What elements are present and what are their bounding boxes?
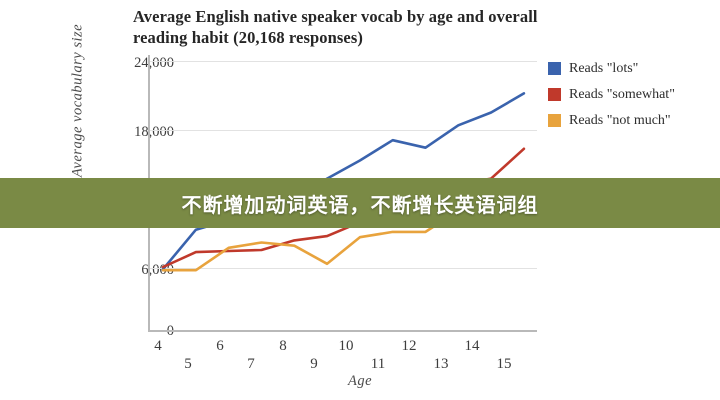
x-tick-11: 11 [358,356,398,373]
legend-swatch-icon [548,114,561,127]
legend-label: Reads "somewhat" [569,87,675,103]
legend-label: Reads "lots" [569,61,638,77]
overlay-banner-text: 不断增加动词英语，不断增长英语词组 [182,189,539,218]
chart-legend: Reads "lots" Reads "somewhat" Reads "not… [548,57,714,135]
x-axis-label: Age [0,373,720,390]
x-tick-9: 9 [294,356,334,373]
chart-screenshot: Average English native speaker vocab by … [0,0,720,400]
legend-swatch-icon [548,88,561,101]
x-tick-8: 8 [263,338,303,355]
overlay-banner: 不断增加动词英语，不断增长英语词组 [0,178,720,228]
legend-item-reads-somewhat: Reads "somewhat" [548,83,714,106]
x-tick-6: 6 [200,338,240,355]
legend-item-reads-lots: Reads "lots" [548,57,714,80]
legend-item-reads-not-much: Reads "not much" [548,109,714,132]
x-tick-12: 12 [389,338,429,355]
x-tick-7: 7 [231,356,271,373]
x-tick-13: 13 [421,356,461,373]
x-tick-15: 15 [484,356,524,373]
x-tick-14: 14 [452,338,492,355]
x-tick-10: 10 [326,338,366,355]
legend-label: Reads "not much" [569,113,671,129]
legend-swatch-icon [548,62,561,75]
x-tick-5: 5 [168,356,208,373]
x-tick-4: 4 [138,338,178,355]
